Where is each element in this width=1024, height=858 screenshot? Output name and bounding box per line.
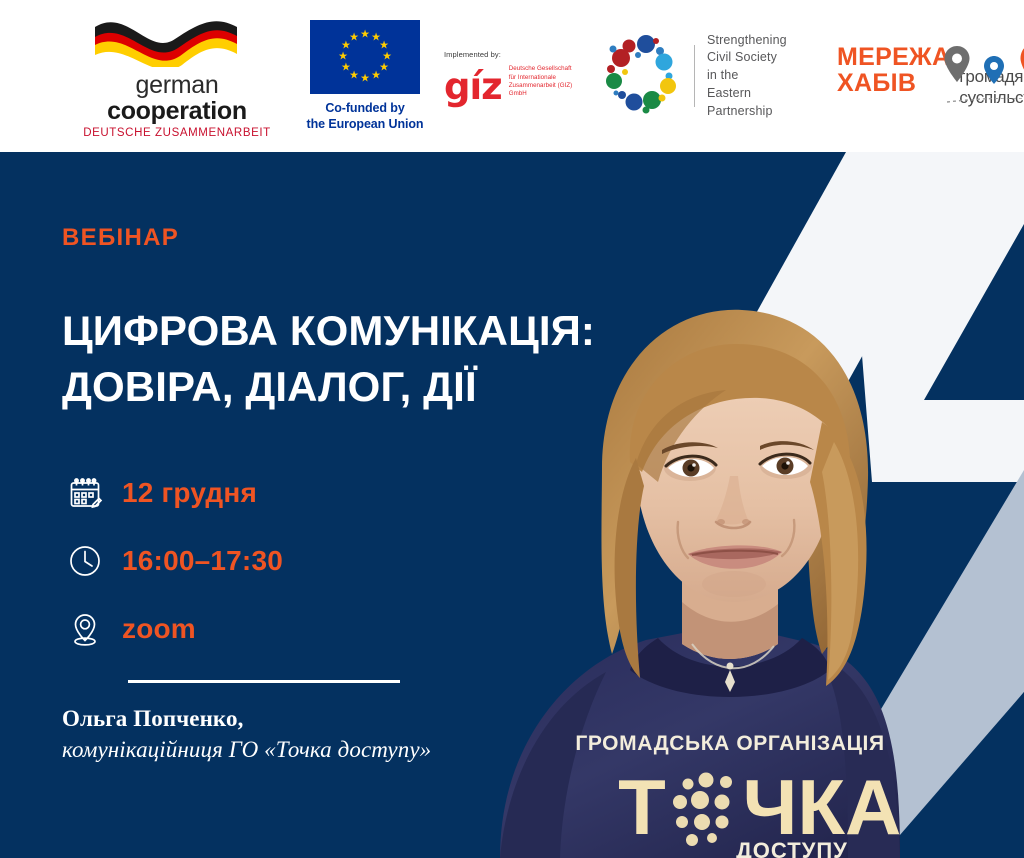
logo-merezha-khabiv: МЕРЕЖА ХАБІВ громадянського суспільства	[837, 44, 1024, 108]
location-pin-icon	[62, 611, 108, 647]
giz-subtitle-line1: Deutsche Gesellschaft	[509, 65, 574, 73]
german-flag-ribbon-icon	[87, 13, 267, 67]
divider	[694, 45, 695, 107]
sweatshirt-line4: ДОСТУПУ	[736, 838, 848, 858]
civil-society-line2: Civil Society	[707, 49, 815, 67]
detail-row-time: 16:00–17:30	[62, 527, 622, 595]
eu-caption-line2: the European Union	[300, 117, 430, 132]
german-cooperation-line2: cooperation	[72, 98, 282, 124]
title-line-1: ЦИФРОВА КОМУНІКАЦІЯ:	[62, 303, 622, 359]
logo-european-union: Co-funded by the European Union	[300, 20, 430, 132]
logo-giz: Implemented by: gíz Deutsche Gesellschaf…	[444, 50, 574, 101]
eu-caption-line1: Co-funded by	[300, 101, 430, 116]
donor-logo-bar: german cooperation DEUTSCHE ZUSAMMENARBE…	[0, 0, 1024, 152]
eu-flag-icon	[310, 20, 420, 94]
kicker-label: ВЕБІНАР	[62, 224, 622, 252]
german-cooperation-line1: german	[72, 73, 282, 98]
giz-subtitle: Deutsche Gesellschaft für Internationale…	[509, 65, 574, 101]
poster-body: ГРОМАДСЬКА ОРГАНІЗАЦІЯ Т	[0, 152, 1024, 858]
poster-content: ВЕБІНАР ЦИФРОВА КОМУНІКАЦІЯ: ДОВІРА, ДІА…	[62, 152, 622, 763]
giz-wordmark: gíz	[444, 72, 502, 102]
calendar-icon	[62, 475, 108, 511]
logo-german-cooperation: german cooperation DEUTSCHE ZUSAMMENARBE…	[72, 13, 282, 139]
detail-value-date: 12 грудня	[122, 477, 257, 509]
giz-subtitle-line2: für Internationale	[509, 74, 574, 82]
civil-society-line3: in the	[707, 67, 815, 85]
civil-society-dots-icon	[600, 34, 688, 118]
merezha-line2: ХАБІВ	[837, 70, 950, 96]
logo-strengthening-civil-society: Strengthening Civil Society in the Easte…	[600, 32, 815, 121]
event-details: 12 грудня 16:00–17:30	[62, 459, 622, 663]
detail-row-place: zoom	[62, 595, 622, 663]
giz-implemented-by-label: Implemented by:	[444, 50, 574, 59]
title-line-2: ДОВІРА, ДІАЛОГ, ДІЇ	[62, 359, 622, 415]
civil-society-line1: Strengthening	[707, 32, 815, 50]
dashed-arc-decoration	[947, 91, 1024, 95]
detail-row-date: 12 грудня	[62, 459, 622, 527]
merezha-wordmark: МЕРЕЖА ХАБІВ	[837, 44, 950, 96]
page-title: ЦИФРОВА КОМУНІКАЦІЯ: ДОВІРА, ДІАЛОГ, ДІЇ	[62, 303, 622, 415]
map-pins-icon	[941, 42, 1024, 94]
sweatshirt-letter-t: Т	[618, 763, 666, 851]
speaker-name: Ольга Попченко,	[62, 706, 622, 732]
civil-society-line4: Eastern Partnership	[707, 85, 815, 121]
giz-subtitle-line3: Zusammenarbeit (GIZ) GmbH	[509, 82, 574, 99]
speaker-role: комунікаційниця ГО «Точка доступу»	[62, 737, 622, 763]
civil-society-caption: Strengthening Civil Society in the Easte…	[707, 32, 815, 121]
detail-value-place: zoom	[122, 613, 196, 645]
speaker-divider	[128, 680, 400, 683]
detail-value-time: 16:00–17:30	[122, 545, 283, 577]
clock-icon	[62, 543, 108, 579]
webinar-poster: german cooperation DEUTSCHE ZUSAMMENARBE…	[0, 0, 1024, 858]
speaker-block: Ольга Попченко, комунікаційниця ГО «Точк…	[62, 706, 622, 763]
german-cooperation-line3: DEUTSCHE ZUSAMMENARBEIT	[72, 127, 282, 139]
merezha-line1: МЕРЕЖА	[837, 44, 950, 70]
